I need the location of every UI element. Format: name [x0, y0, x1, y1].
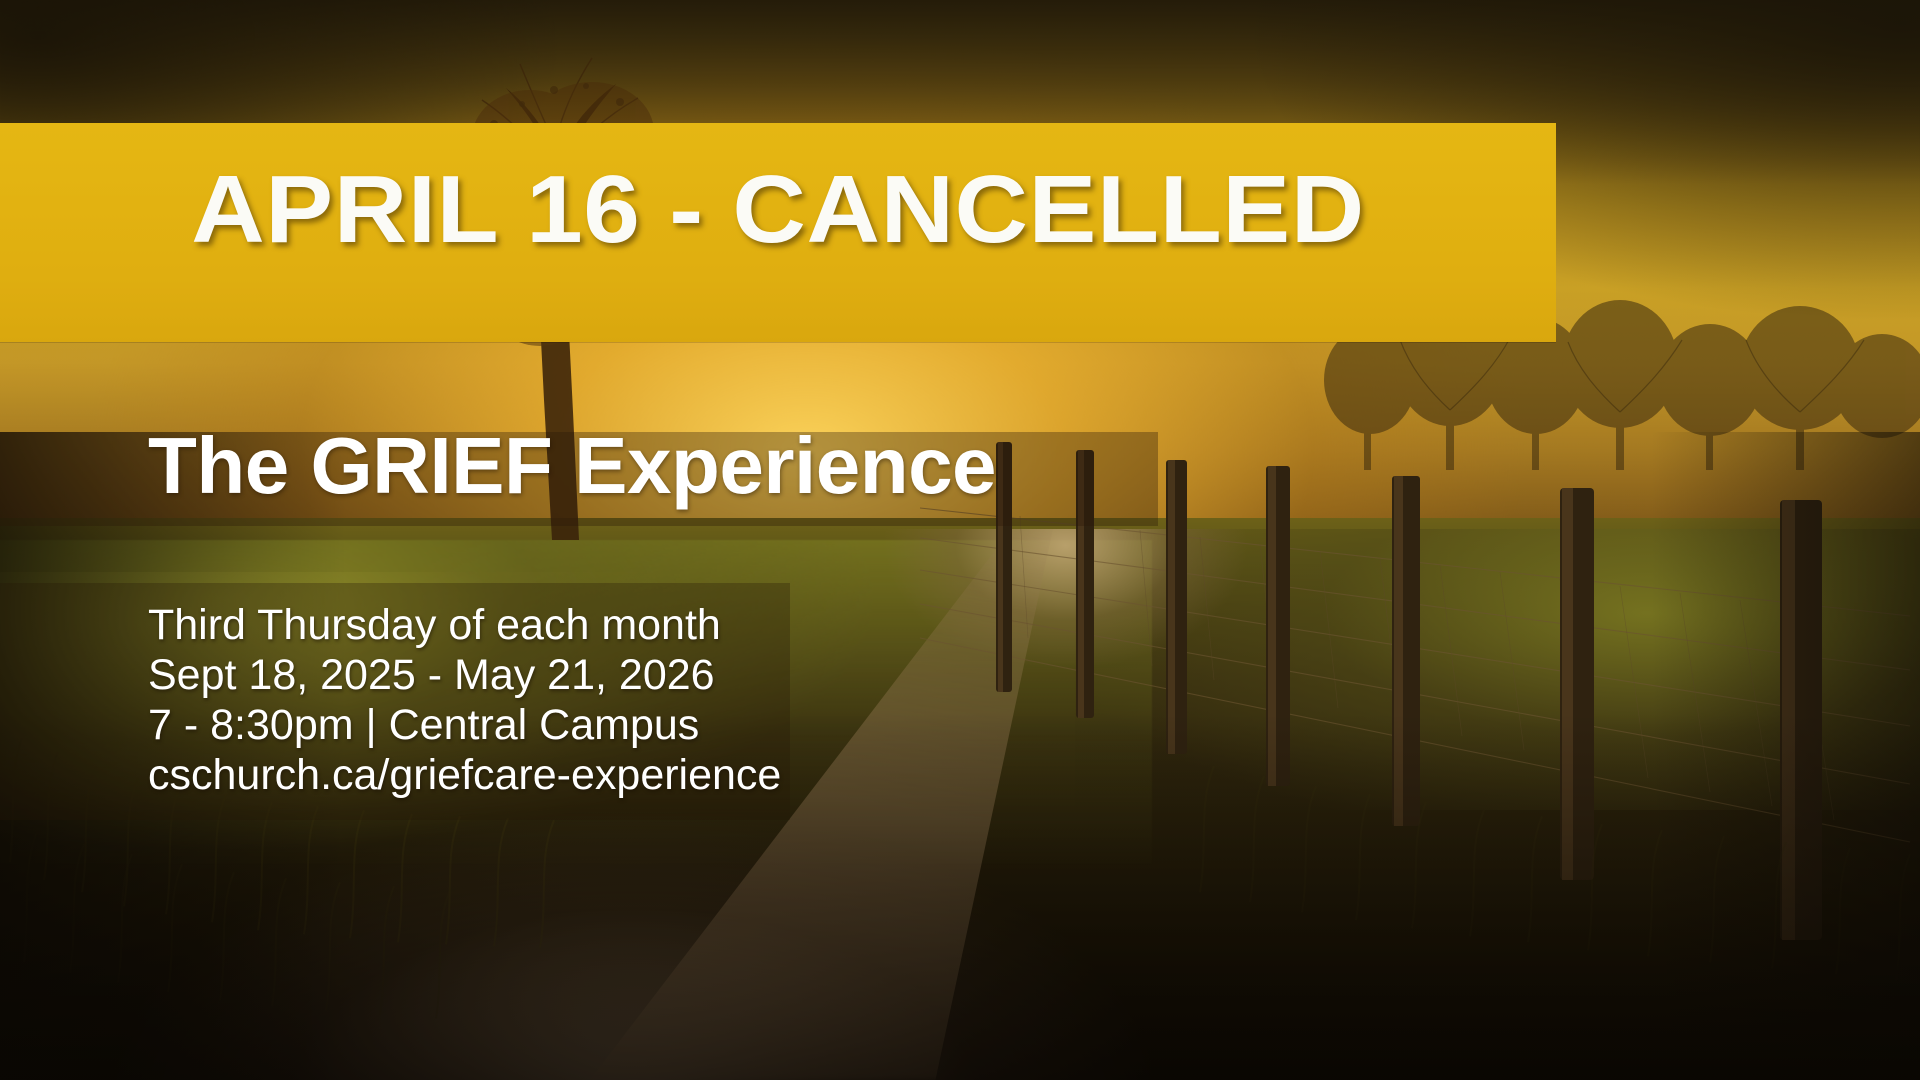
event-details: Third Thursday of each month Sept 18, 20… — [148, 600, 781, 800]
detail-url[interactable]: cschurch.ca/griefcare-experience — [148, 750, 781, 800]
detail-schedule: Third Thursday of each month — [148, 600, 781, 650]
detail-time-location: 7 - 8:30pm | Central Campus — [148, 700, 781, 750]
page-title: The GRIEF Experience — [148, 425, 996, 507]
cancellation-banner: APRIL 16 - CANCELLED — [0, 123, 1556, 342]
cancellation-banner-text: APRIL 16 - CANCELLED — [0, 155, 1603, 265]
detail-date-range: Sept 18, 2025 - May 21, 2026 — [148, 650, 781, 700]
right-edge-vignette — [1651, 432, 1920, 1080]
event-poster: APRIL 16 - CANCELLED The GRIEF Experienc… — [0, 0, 1920, 1080]
